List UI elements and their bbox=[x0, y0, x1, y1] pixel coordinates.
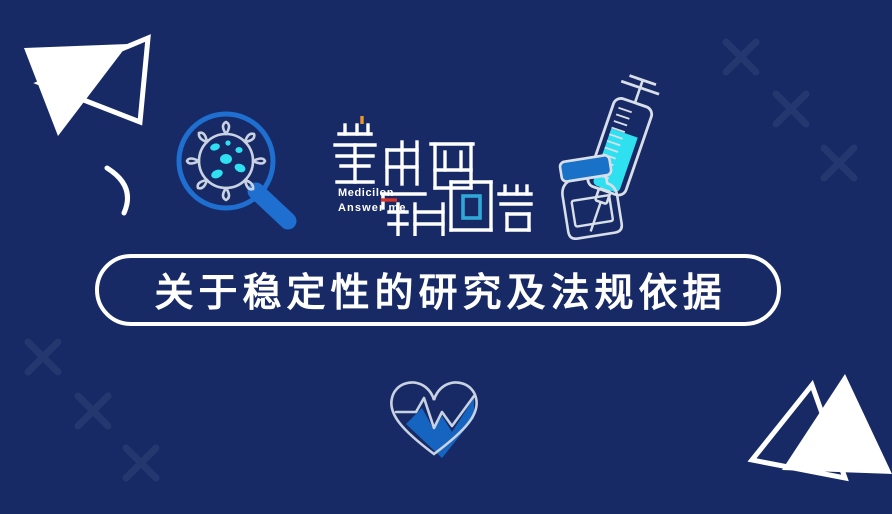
title-pill: 关于稳定性的研究及法规依据 bbox=[95, 254, 781, 326]
triangle-filled-bottom-right bbox=[782, 374, 892, 474]
arc-left bbox=[107, 168, 128, 213]
syringe-vial-icon bbox=[548, 72, 673, 240]
x-mark-icon bbox=[824, 148, 854, 178]
triangle-filled-top-left bbox=[24, 44, 128, 136]
logo-accent-square bbox=[463, 196, 480, 218]
syringe-plunger-rod-icon bbox=[635, 80, 643, 103]
logo-latin-line-1: Medicilon bbox=[338, 186, 394, 201]
banner-root: Medicilon Answer me bbox=[0, 0, 892, 514]
logo-latin-line-2: Answer me bbox=[338, 201, 407, 216]
x-marks-bottom-left bbox=[28, 342, 156, 478]
heart-pulse-icon bbox=[382, 368, 486, 460]
virus-spots-icon bbox=[209, 140, 246, 180]
magnifier-virus-icon bbox=[160, 100, 310, 230]
x-mark-icon bbox=[78, 396, 108, 426]
x-marks-top-right bbox=[726, 42, 854, 178]
x-mark-icon bbox=[126, 448, 156, 478]
page-title: 关于稳定性的研究及法规依据 bbox=[149, 262, 726, 318]
x-mark-icon bbox=[726, 42, 756, 72]
syringe-needle-icon bbox=[591, 201, 601, 231]
x-mark-icon bbox=[28, 342, 58, 372]
x-mark-icon bbox=[776, 94, 806, 124]
medicilon-logo-mark bbox=[325, 108, 540, 236]
